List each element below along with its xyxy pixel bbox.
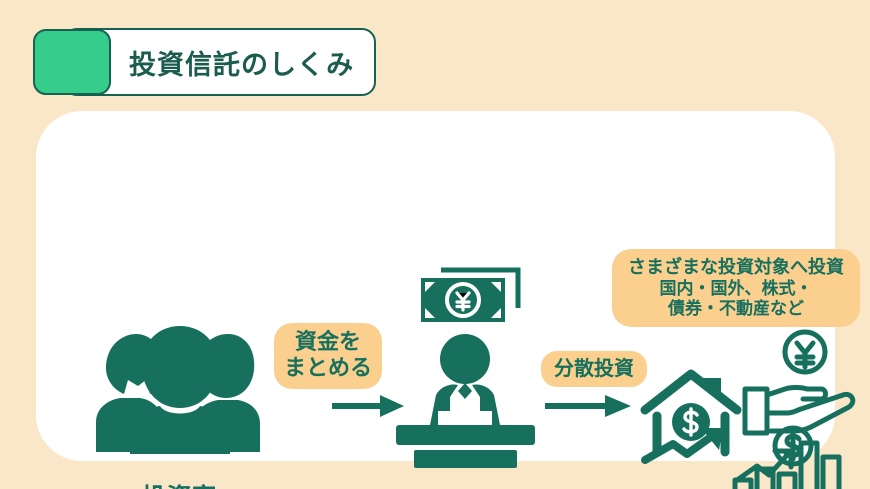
pool-funds-line-2: まとめる <box>284 356 372 382</box>
pool-funds-callout: 資金を まとめる <box>274 323 382 389</box>
diversify-label: 分散投資 <box>554 357 634 381</box>
diversify-callout: 分散投資 <box>541 351 647 387</box>
infographic-canvas: 投資信託のしくみ 投資家 資金を <box>0 0 870 489</box>
targets-line-1: さまざまな投資対象へ投資 <box>628 257 844 278</box>
professional-at-desk-icon <box>388 333 543 468</box>
diagram-card: 投資家 資金を まとめる <box>36 111 835 461</box>
investors-label: 投資家 <box>96 483 262 489</box>
house-with-dollar-icon <box>639 366 743 468</box>
pool-funds-line-1: 資金を <box>295 330 361 356</box>
arrow-right-icon-2 <box>545 393 631 419</box>
yen-banknote-icon <box>417 264 522 326</box>
targets-line-2: 国内・国外、株式・ <box>660 279 813 299</box>
green-square-icon <box>33 29 111 95</box>
investment-targets-callout: さまざまな投資対象へ投資 国内・国外、株式・ 債券・不動産など <box>612 249 860 327</box>
targets-line-3: 債券・不動産など <box>668 299 804 319</box>
hand-with-yen-and-growth-chart-icon <box>731 329 859 489</box>
title-badge: 投資信託のしくみ <box>33 28 378 98</box>
people-group-icon <box>94 324 262 454</box>
page-title: 投資信託のしくみ <box>129 28 379 96</box>
